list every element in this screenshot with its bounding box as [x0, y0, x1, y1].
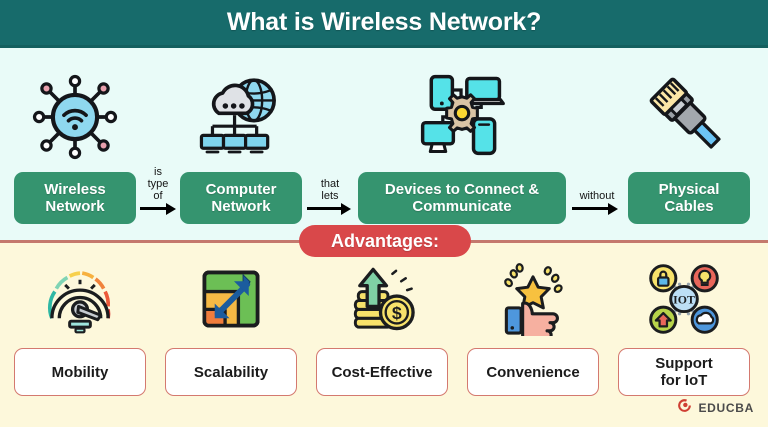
page-title: What is Wireless Network?	[227, 8, 541, 37]
arrow-head	[341, 203, 351, 215]
flow-box-label: Devices to Connect & Communicate	[358, 172, 566, 224]
connected-devices-icon	[414, 67, 510, 168]
speedometer-icon	[43, 262, 117, 336]
arrow-head	[166, 203, 176, 215]
svg-text:$: $	[392, 303, 402, 323]
growth-chart-icon	[194, 262, 268, 336]
advantage-label: Mobility	[14, 348, 146, 396]
flow-box-label: Physical Cables	[628, 172, 750, 224]
flow-connector-3: without	[566, 48, 628, 224]
thumbs-up-icon	[496, 262, 570, 336]
flow-box-label: Computer Network	[180, 172, 302, 224]
header-bar: What is Wireless Network?	[0, 0, 768, 45]
flow-diagram: Wireless Network is type of	[0, 48, 768, 240]
advantage-label: Support for IoT	[618, 348, 750, 396]
flow-box-label: Wireless Network	[14, 172, 136, 224]
flow-node-physical-cables: Physical Cables	[628, 48, 750, 224]
advantage-card-support-for-iot[interactable]: IOT Support for IoT	[609, 262, 759, 396]
educba-logo-icon	[676, 397, 693, 419]
advantage-label: Cost-Effective	[316, 348, 448, 396]
advantages-list: Mobility	[0, 262, 768, 402]
flow-connector-2: that lets	[302, 48, 358, 224]
arrow-head	[608, 203, 618, 215]
brand-logo: EDUCBA	[676, 397, 754, 419]
arrow-right-icon	[140, 207, 168, 210]
flow-connector-label: without	[580, 190, 615, 202]
advantage-label: Scalability	[165, 348, 297, 396]
advantages-heading-badge: Advantages:	[299, 225, 471, 257]
advantages-heading-label: Advantages:	[331, 231, 439, 252]
flow-connector-1: is type of	[136, 48, 180, 224]
advantage-card-cost-effective[interactable]: $ Cost-Effective	[307, 262, 457, 396]
arrow-right-icon	[307, 207, 343, 210]
infographic-root: What is Wireless Network?	[0, 0, 768, 427]
arrow-right-icon	[572, 207, 610, 210]
svg-text:IOT: IOT	[673, 292, 695, 306]
coins-up-arrow-icon: $	[345, 262, 419, 336]
iot-network-icon: IOT	[647, 262, 721, 336]
advantage-card-scalability[interactable]: Scalability	[156, 262, 306, 396]
flow-connector-label: that lets	[321, 178, 339, 202]
advantage-card-convenience[interactable]: Convenience	[458, 262, 608, 396]
flow-node-computer-network: Computer Network	[180, 48, 302, 224]
brand-name: EDUCBA	[698, 401, 754, 415]
wireless-network-icon	[29, 71, 121, 168]
flow-connector-label: is type of	[147, 166, 169, 202]
ethernet-cable-icon	[643, 71, 735, 168]
computer-network-icon	[195, 71, 287, 168]
advantage-label: Convenience	[467, 348, 599, 396]
flow-node-devices-connect-communicate: Devices to Connect & Communicate	[358, 48, 566, 224]
flow-node-wireless-network: Wireless Network	[14, 48, 136, 224]
advantage-card-mobility[interactable]: Mobility	[5, 262, 155, 396]
